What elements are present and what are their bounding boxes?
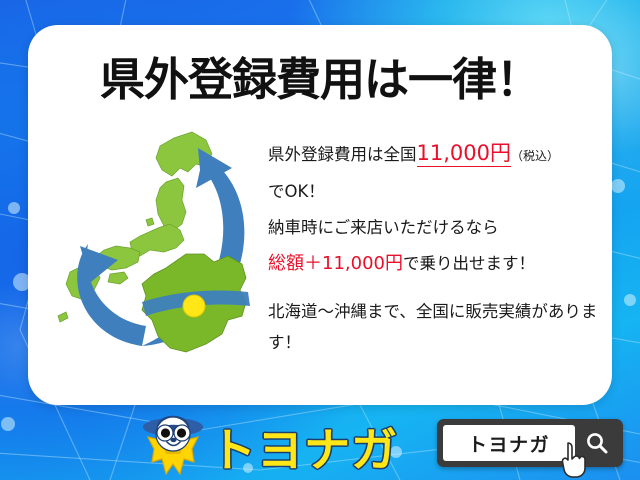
search-icon [584,430,610,456]
toyonaga-mascot-icon [136,404,210,480]
search-input[interactable]: トヨナガ [443,425,575,461]
copy-line-4: 総額＋11,000円で乗り出せます！ [268,246,603,282]
content-card: 県外登録費用は一律！ [28,25,612,405]
tax-note: （税込） [511,149,559,163]
price-highlight: 11,000円 [417,141,511,167]
copy-line-5: 北海道〜沖縄まで、全国に販売実績があります！ [268,296,603,358]
body-copy: 県外登録費用は全国11,000円（税込） でOK！ 納車時にご来店いただけるなら… [268,135,603,358]
search-query-text: トヨナガ [468,430,550,457]
total-price-highlight: 総額＋11,000円 [268,253,403,274]
banner-image: 県外登録費用は一律！ [0,0,640,480]
copy-line-1-prefix: 県外登録費用は全国 [268,145,417,164]
page-title: 県外登録費用は一律！ [28,43,612,108]
copy-line-1: 県外登録費用は全国11,000円（税込） [268,135,603,174]
copy-line-3: 納車時にご来店いただけるなら [268,210,603,246]
copy-spacer [268,282,603,296]
copy-line-2: でOK！ [268,174,603,210]
japan-map-graphic [46,120,276,390]
brand-logo-text: トヨナガ [210,414,398,480]
search-button[interactable] [577,425,617,461]
search-widget[interactable]: トヨナガ [437,419,623,467]
copy-line-4-rest: で乗り出せます！ [403,254,535,273]
